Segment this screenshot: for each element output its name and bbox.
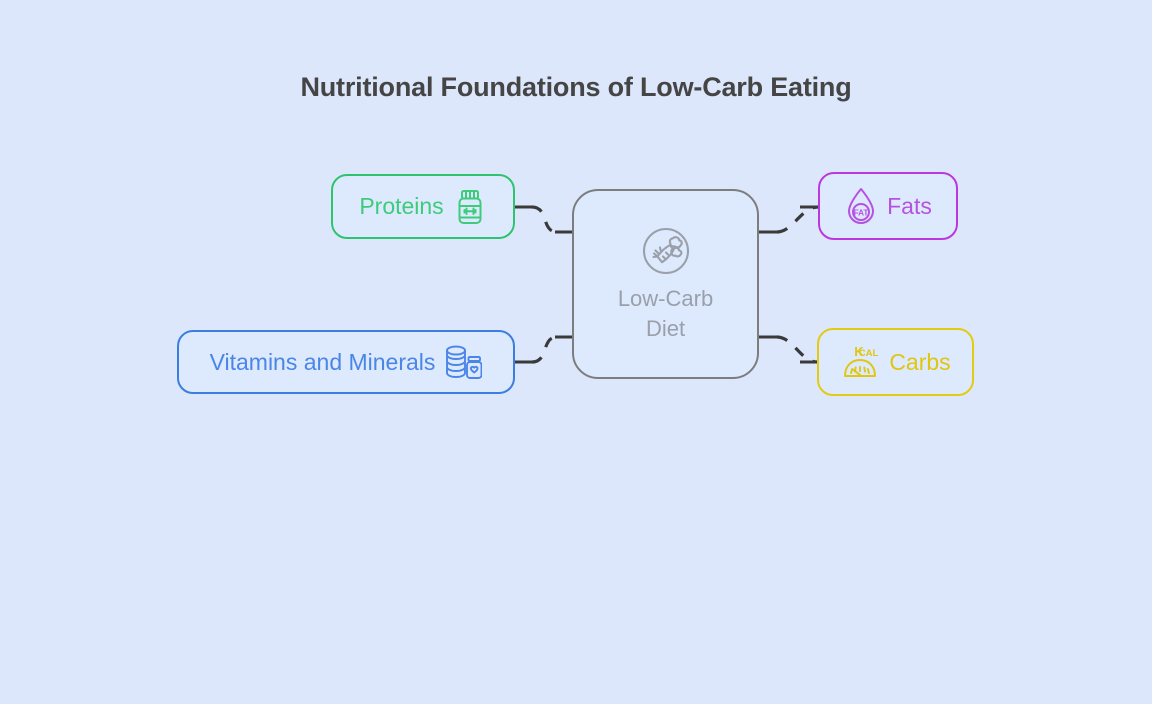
svg-text:FAT: FAT	[854, 208, 869, 217]
fat-droplet-icon: FAT	[844, 186, 878, 226]
node-carbs[interactable]: K CAL Carbs	[817, 328, 974, 396]
edge-center-carbs	[777, 337, 817, 362]
node-carbs-label: Carbs	[889, 351, 950, 374]
diagram-canvas: Nutritional Foundations of Low-Carb Eati…	[0, 0, 1152, 704]
page-title: Nutritional Foundations of Low-Carb Eati…	[0, 72, 1152, 103]
node-proteins-label: Proteins	[359, 195, 443, 218]
pill-stack-bottle-icon	[444, 344, 482, 380]
edge-proteins-center	[532, 207, 557, 232]
edge-center-fats	[777, 207, 818, 232]
node-fats-label: Fats	[887, 195, 932, 218]
kcal-gauge-icon: K CAL	[840, 342, 880, 382]
node-low-carb-diet[interactable]: Low-CarbDiet	[572, 189, 759, 379]
node-proteins[interactable]: Proteins	[331, 174, 515, 239]
node-center-label: Low-CarbDiet	[618, 284, 713, 345]
node-vitamins-label: Vitamins and Minerals	[210, 351, 436, 374]
vegetables-circle-icon	[639, 224, 693, 278]
node-fats[interactable]: FAT Fats	[818, 172, 958, 240]
edge-vitamins-center	[532, 337, 557, 362]
svg-text:CAL: CAL	[859, 348, 879, 359]
protein-jar-icon	[453, 189, 487, 225]
node-vitamins-and-minerals[interactable]: Vitamins and Minerals	[177, 330, 515, 394]
